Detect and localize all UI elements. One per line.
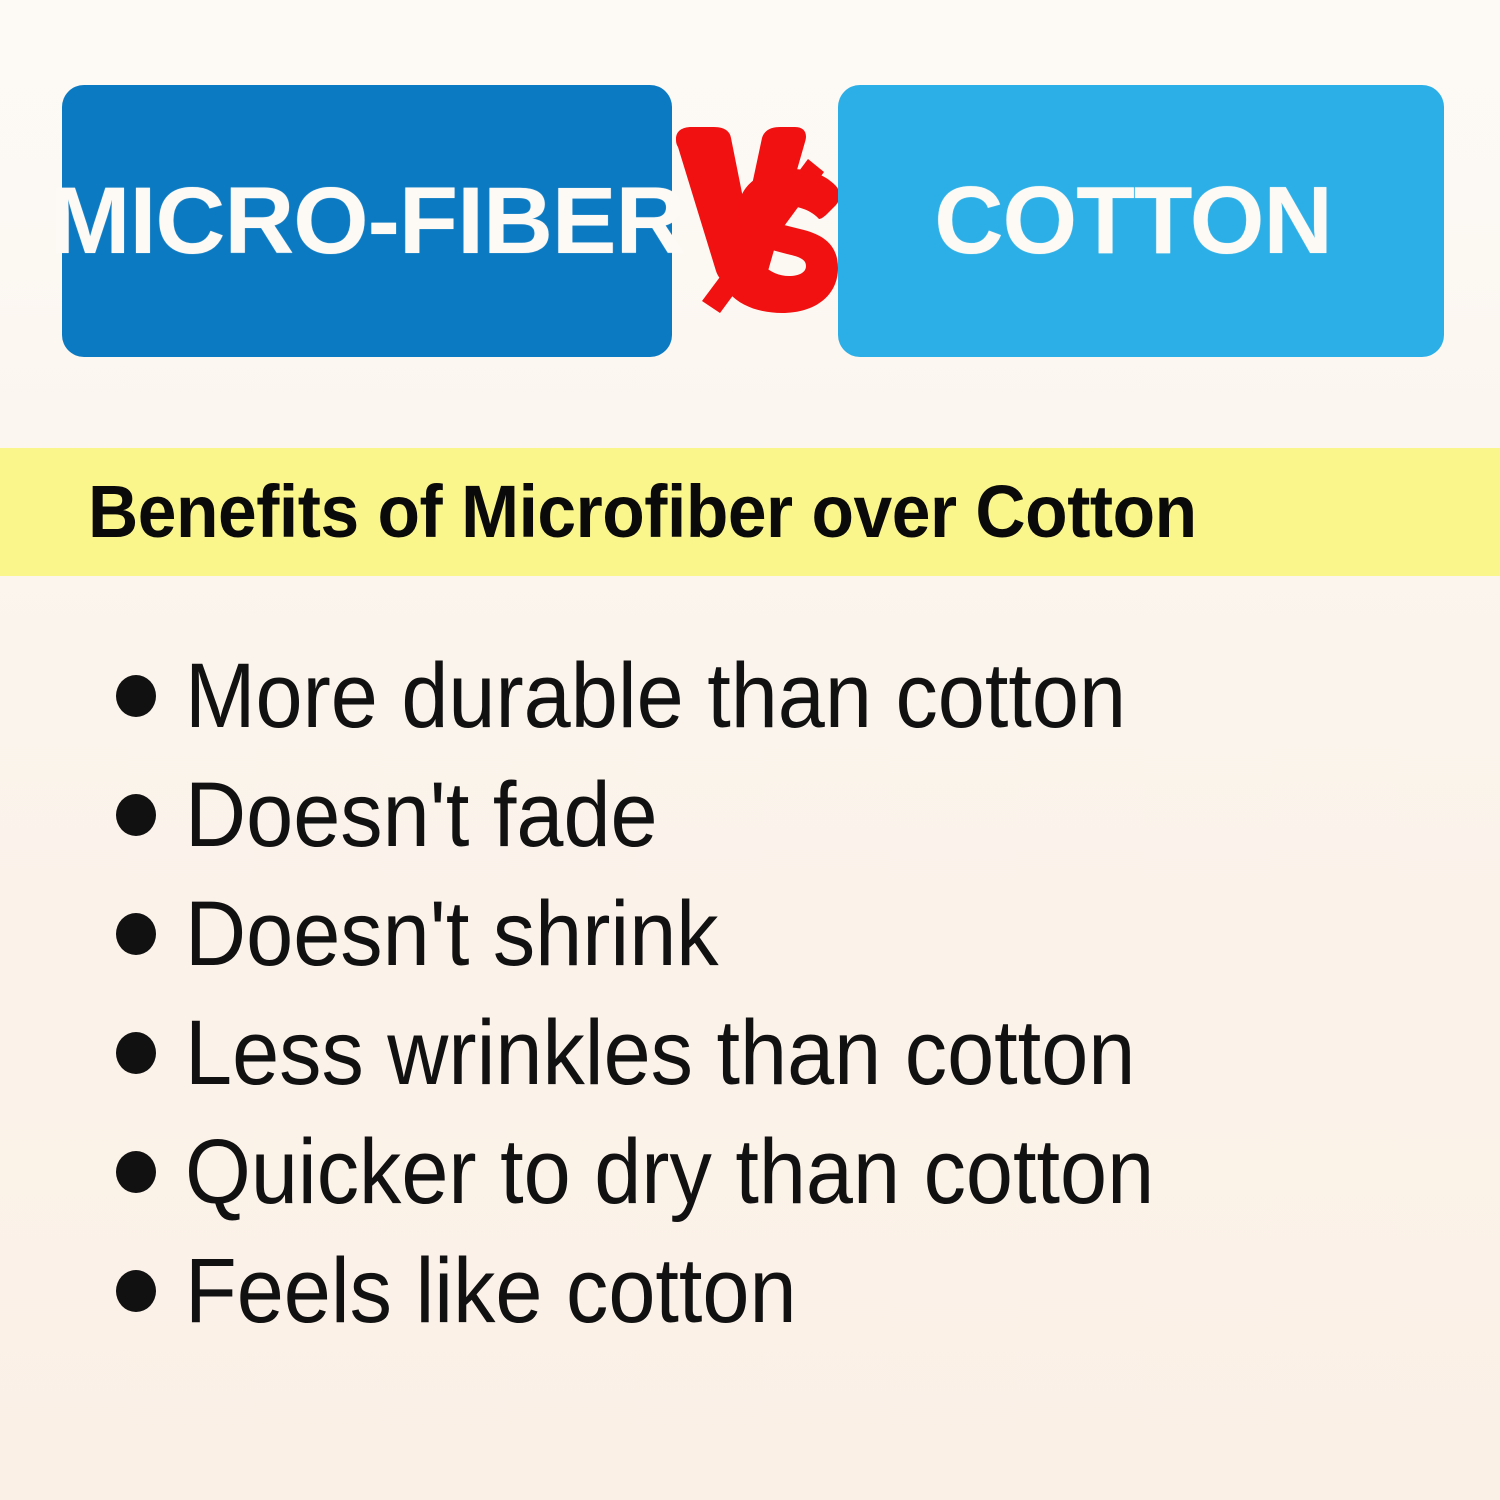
cotton-card: COTTON: [838, 85, 1444, 357]
list-item: Quicker to dry than cotton: [0, 1112, 1500, 1231]
benefits-list: More durable than cotton Doesn't fade Do…: [0, 636, 1500, 1350]
bullet-icon: [116, 1151, 156, 1193]
list-item-label: More durable than cotton: [185, 650, 1126, 742]
bullet-icon: [116, 1032, 156, 1074]
bullet-icon: [116, 675, 156, 717]
bullet-icon: [116, 1270, 156, 1312]
list-item: Doesn't shrink: [0, 874, 1500, 993]
microfiber-card-label: MICRO-FIBER: [50, 174, 685, 269]
section-heading-title: Benefits of Microfiber over Cotton: [88, 475, 1197, 549]
list-item-label: Doesn't fade: [185, 769, 658, 861]
microfiber-card: MICRO-FIBER: [62, 85, 672, 357]
versus-icon: [672, 125, 838, 320]
list-item-label: Feels like cotton: [185, 1245, 797, 1337]
bullet-icon: [116, 913, 156, 955]
list-item-label: Less wrinkles than cotton: [185, 1007, 1135, 1099]
bullet-icon: [116, 794, 156, 836]
section-heading-band: Benefits of Microfiber over Cotton: [0, 448, 1500, 576]
cotton-card-label: COTTON: [934, 173, 1348, 269]
list-item: Doesn't fade: [0, 755, 1500, 874]
list-item: Feels like cotton: [0, 1231, 1500, 1350]
list-item-label: Quicker to dry than cotton: [185, 1126, 1154, 1218]
list-item: More durable than cotton: [0, 636, 1500, 755]
list-item: Less wrinkles than cotton: [0, 993, 1500, 1112]
list-item-label: Doesn't shrink: [185, 888, 719, 980]
comparison-infographic: MICRO-FIBER COTTON Benefits of Microfibe…: [0, 0, 1500, 1500]
versus-banner: MICRO-FIBER COTTON: [0, 0, 1500, 440]
